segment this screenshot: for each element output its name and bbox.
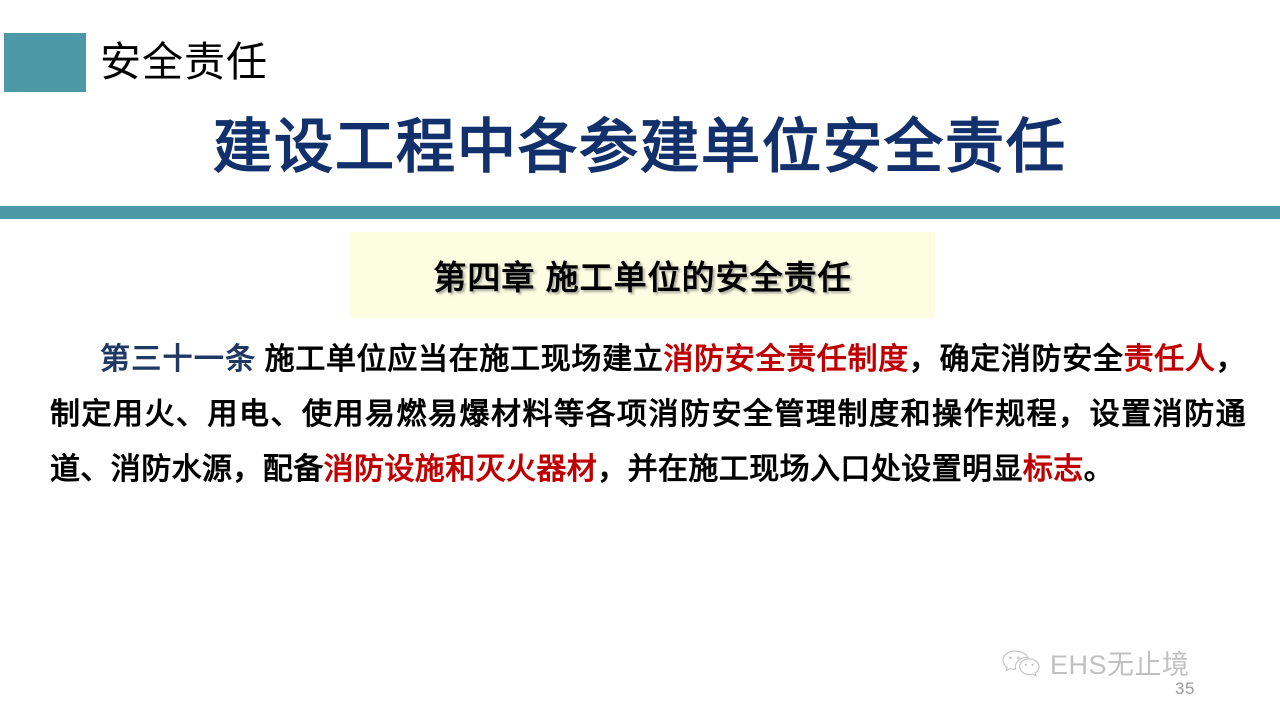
article-segment-2: ，确定消防安全 xyxy=(909,343,1124,376)
article-segment-3: 责任人 xyxy=(1124,343,1216,376)
page-number: 35 xyxy=(1175,679,1195,699)
article-body: 第三十一条施工单位应当在施工现场建立消防安全责任制度，确定消防安全责任人，制定用… xyxy=(50,332,1246,497)
accent-square-decoration xyxy=(4,33,86,92)
wechat-icon xyxy=(1000,648,1042,682)
watermark-label: EHS无止境 xyxy=(1050,650,1190,680)
article-segment-6: ，并在施工现场入口处设置明显 xyxy=(597,453,1023,486)
header-divider-bar xyxy=(0,206,1280,219)
watermark: EHS无止境 xyxy=(1000,648,1190,682)
article-segment-1: 消防安全责任制度 xyxy=(663,343,908,376)
chapter-banner-label: 第四章 施工单位的安全责任 xyxy=(433,251,851,299)
slide-header: 安全责任 建设工程中各参建单位安全责任 xyxy=(0,0,1280,206)
article-segment-8: 。 xyxy=(1084,453,1114,486)
article-number: 第三十一条 xyxy=(100,343,256,376)
article-segment-7: 标志 xyxy=(1023,453,1084,486)
chapter-banner: 第四章 施工单位的安全责任 xyxy=(350,232,935,318)
page-title: 建设工程中各参建单位安全责任 xyxy=(0,110,1280,184)
slide-canvas: 安全责任 建设工程中各参建单位安全责任 第四章 施工单位的安全责任 第三十一条施… xyxy=(0,0,1280,720)
article-segment-0: 施工单位应当在施工现场建立 xyxy=(264,343,663,376)
article-segment-5: 消防设施和灭火器材 xyxy=(324,453,598,486)
article-paragraph: 第三十一条施工单位应当在施工现场建立消防安全责任制度，确定消防安全责任人，制定用… xyxy=(50,332,1246,497)
header-kicker: 安全责任 xyxy=(100,37,268,87)
